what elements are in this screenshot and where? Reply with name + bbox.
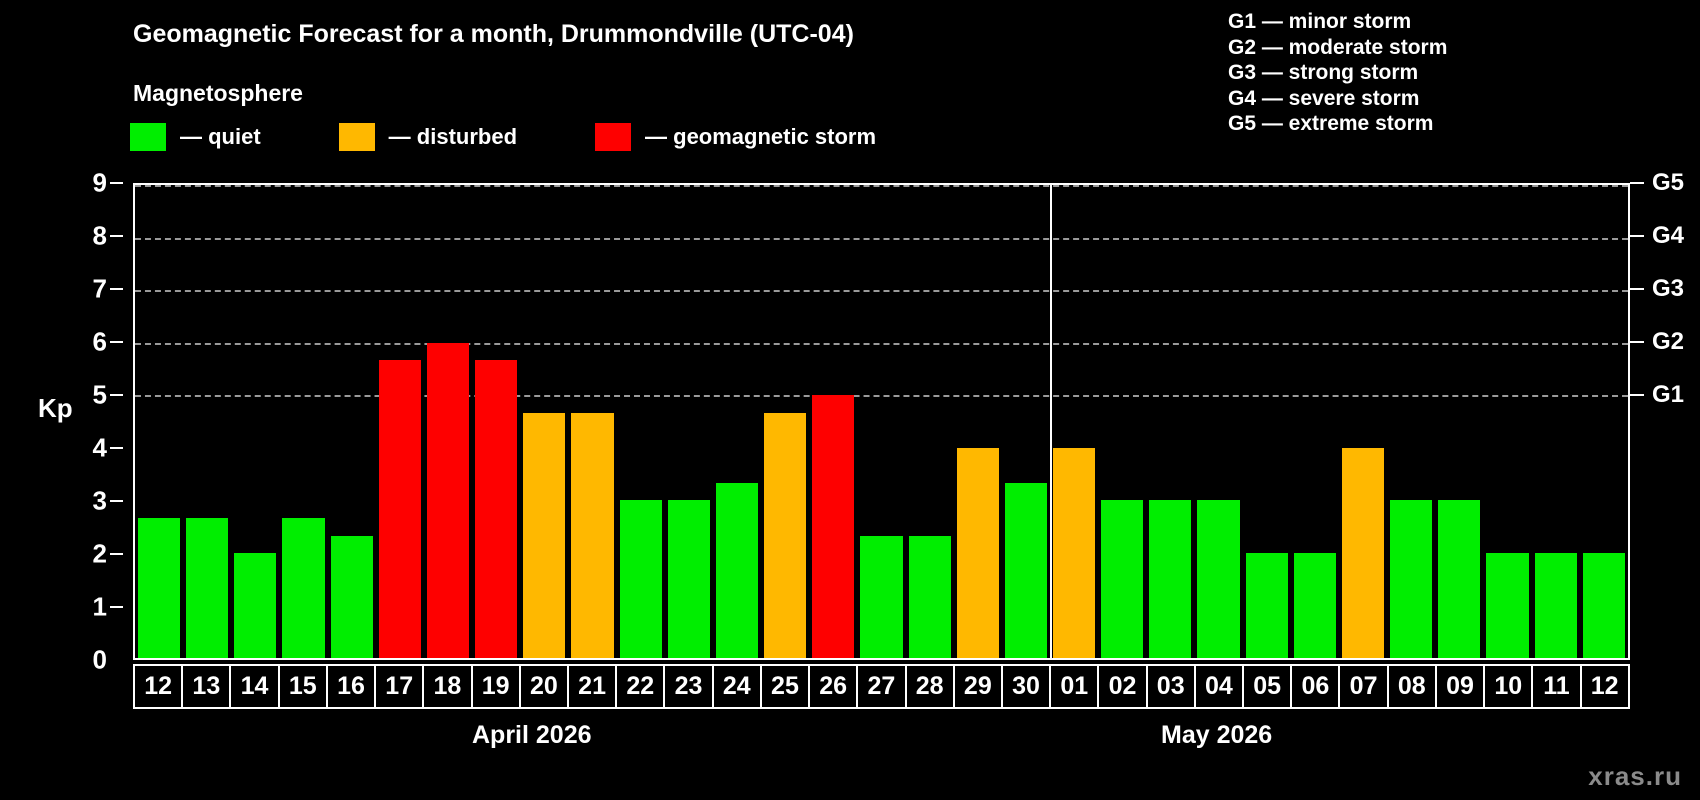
date-label-12[interactable]: 12 [135, 666, 183, 707]
bar-15-quiet[interactable] [282, 518, 324, 658]
y-tick-mark-3 [110, 500, 123, 502]
bar-cell [1291, 185, 1339, 658]
date-label-08[interactable]: 08 [1389, 666, 1437, 707]
bar-cell [328, 185, 376, 658]
bar-cell [183, 185, 231, 658]
bar-18-storm[interactable] [427, 343, 469, 658]
bar-11-quiet[interactable] [1535, 553, 1577, 658]
date-label-17[interactable]: 17 [376, 666, 424, 707]
bar-27-quiet[interactable] [860, 536, 902, 658]
date-label-23[interactable]: 23 [665, 666, 713, 707]
bar-cell [1194, 185, 1242, 658]
y-tick-label-1: 1 [93, 592, 107, 623]
g-scale-row-g5: G5 — extreme storm [1228, 111, 1447, 137]
date-label-06[interactable]: 06 [1292, 666, 1340, 707]
date-label-04[interactable]: 04 [1196, 666, 1244, 707]
bar-cell [520, 185, 568, 658]
date-label-27[interactable]: 27 [858, 666, 906, 707]
bar-cell [472, 185, 520, 658]
g-tick-mark-g3 [1630, 288, 1644, 290]
page-title: Geomagnetic Forecast for a month, Drummo… [133, 20, 854, 49]
y-tick-label-3: 3 [93, 485, 107, 516]
date-label-24[interactable]: 24 [714, 666, 762, 707]
y-tick-label-5: 5 [93, 380, 107, 411]
bar-cell [424, 185, 472, 658]
legend-label-storm: — geomagnetic storm [645, 124, 876, 150]
bar-cell [665, 185, 713, 658]
g-scale-legend: G1 — minor storm G2 — moderate storm G3 … [1228, 9, 1447, 137]
date-label-22[interactable]: 22 [617, 666, 665, 707]
magnetosphere-heading: Magnetosphere [133, 80, 303, 107]
date-label-29[interactable]: 29 [955, 666, 1003, 707]
bar-22-quiet[interactable] [620, 500, 662, 658]
date-label-12[interactable]: 12 [1582, 666, 1628, 707]
bar-cell [1532, 185, 1580, 658]
y-tick-label-0: 0 [93, 645, 107, 676]
legend-item-quiet: — quiet [130, 123, 261, 151]
chart-plot-area [133, 183, 1630, 660]
bar-cell [809, 185, 857, 658]
date-label-05[interactable]: 05 [1244, 666, 1292, 707]
date-label-02[interactable]: 02 [1099, 666, 1147, 707]
legend-label-disturbed: — disturbed [389, 124, 517, 150]
g-tick-mark-g4 [1630, 235, 1644, 237]
bar-cell [279, 185, 327, 658]
date-label-19[interactable]: 19 [473, 666, 521, 707]
date-label-15[interactable]: 15 [280, 666, 328, 707]
bar-cell [231, 185, 279, 658]
bar-series [135, 185, 1628, 658]
bar-13-quiet[interactable] [186, 518, 228, 658]
bar-28-quiet[interactable] [909, 536, 951, 658]
legend-item-disturbed: — disturbed [339, 123, 517, 151]
month-label-april: April 2026 [472, 721, 592, 750]
bar-20-disturbed[interactable] [523, 413, 565, 658]
date-label-28[interactable]: 28 [907, 666, 955, 707]
bar-cell [761, 185, 809, 658]
date-label-21[interactable]: 21 [569, 666, 617, 707]
date-label-09[interactable]: 09 [1437, 666, 1485, 707]
bar-17-storm[interactable] [379, 360, 421, 658]
y-tick-mark-9 [110, 182, 123, 184]
watermark: xras.ru [1588, 761, 1682, 792]
bar-cell [1098, 185, 1146, 658]
bar-cell [1580, 185, 1628, 658]
bar-cell [857, 185, 905, 658]
bar-02-quiet[interactable] [1101, 500, 1143, 658]
y-axis-label: Kp [38, 393, 73, 424]
bar-cell [1050, 185, 1098, 658]
g-tick-label-g3: G3 [1652, 275, 1684, 303]
g-tick-label-g2: G2 [1652, 328, 1684, 356]
y-tick-label-8: 8 [93, 221, 107, 252]
y-tick-label-6: 6 [93, 326, 107, 357]
bar-08-quiet[interactable] [1390, 500, 1432, 658]
date-label-14[interactable]: 14 [231, 666, 279, 707]
y-tick-mark-5 [110, 394, 123, 396]
legend-item-storm: — geomagnetic storm [595, 123, 876, 151]
date-label-26[interactable]: 26 [810, 666, 858, 707]
date-label-07[interactable]: 07 [1340, 666, 1388, 707]
g-tick-label-g4: G4 [1652, 222, 1684, 250]
date-axis-strip: 1213141516171819202122232425262728293001… [133, 664, 1630, 709]
bar-07-disturbed[interactable] [1342, 448, 1384, 658]
date-label-18[interactable]: 18 [424, 666, 472, 707]
y-tick-mark-1 [110, 606, 123, 608]
date-label-13[interactable]: 13 [183, 666, 231, 707]
g-scale-row-g2: G2 — moderate storm [1228, 35, 1447, 61]
date-label-03[interactable]: 03 [1148, 666, 1196, 707]
bar-24-quiet[interactable] [716, 483, 758, 658]
bar-cell [1002, 185, 1050, 658]
month-label-may: May 2026 [1161, 721, 1272, 750]
bar-cell [954, 185, 1002, 658]
g-tick-mark-g2 [1630, 341, 1644, 343]
bar-01-disturbed[interactable] [1053, 448, 1095, 658]
legend-swatch-storm [595, 123, 631, 151]
bar-cell [1146, 185, 1194, 658]
magnetosphere-legend: — quiet — disturbed — geomagnetic storm [130, 123, 876, 151]
bar-cell [713, 185, 761, 658]
legend-label-quiet: — quiet [180, 124, 261, 150]
bar-25-disturbed[interactable] [764, 413, 806, 658]
date-label-30[interactable]: 30 [1003, 666, 1051, 707]
g-scale-row-g1: G1 — minor storm [1228, 9, 1447, 35]
g-scale-row-g3: G3 — strong storm [1228, 60, 1447, 86]
date-label-11[interactable]: 11 [1533, 666, 1581, 707]
y-tick-mark-6 [110, 341, 123, 343]
bar-12-quiet[interactable] [138, 518, 180, 658]
bar-04-quiet[interactable] [1197, 500, 1239, 658]
bar-21-disturbed[interactable] [571, 413, 613, 658]
g-tick-label-g1: G1 [1652, 381, 1684, 409]
y-tick-mark-7 [110, 288, 123, 290]
y-tick-label-4: 4 [93, 433, 107, 464]
y-tick-mark-8 [110, 235, 123, 237]
bar-cell [1483, 185, 1531, 658]
bar-29-disturbed[interactable] [957, 448, 999, 658]
date-label-20[interactable]: 20 [521, 666, 569, 707]
bar-16-quiet[interactable] [331, 536, 373, 658]
g-tick-mark-g1 [1630, 394, 1644, 396]
bar-14-quiet[interactable] [234, 553, 276, 658]
bar-23-quiet[interactable] [668, 500, 710, 658]
bar-10-quiet[interactable] [1486, 553, 1528, 658]
bar-06-quiet[interactable] [1294, 553, 1336, 658]
g-tick-label-g5: G5 [1652, 169, 1684, 197]
y-tick-label-7: 7 [93, 274, 107, 305]
bar-cell [1243, 185, 1291, 658]
month-separator-line [1050, 185, 1052, 658]
y-tick-mark-2 [110, 553, 123, 555]
bar-cell [376, 185, 424, 658]
bar-30-quiet[interactable] [1005, 483, 1047, 658]
bar-12-quiet[interactable] [1583, 553, 1625, 658]
g-scale-row-g4: G4 — severe storm [1228, 86, 1447, 112]
g-scale-axis: G1G2G3G4G5 [1630, 183, 1700, 660]
bar-26-storm[interactable] [812, 395, 854, 658]
y-tick-label-2: 2 [93, 539, 107, 570]
y-tick-mark-4 [110, 447, 123, 449]
bar-cell [1387, 185, 1435, 658]
bar-cell [568, 185, 616, 658]
legend-swatch-quiet [130, 123, 166, 151]
g-tick-mark-g5 [1630, 182, 1644, 184]
bar-19-storm[interactable] [475, 360, 517, 658]
date-label-25[interactable]: 25 [762, 666, 810, 707]
bar-cell [1435, 185, 1483, 658]
bar-03-quiet[interactable] [1149, 500, 1191, 658]
bar-cell [135, 185, 183, 658]
bar-cell [617, 185, 665, 658]
legend-swatch-disturbed [339, 123, 375, 151]
bar-cell [1339, 185, 1387, 658]
bar-09-quiet[interactable] [1438, 500, 1480, 658]
bar-cell [906, 185, 954, 658]
date-label-01[interactable]: 01 [1051, 666, 1099, 707]
bar-05-quiet[interactable] [1246, 553, 1288, 658]
date-label-16[interactable]: 16 [328, 666, 376, 707]
y-tick-label-9: 9 [93, 168, 107, 199]
date-label-10[interactable]: 10 [1485, 666, 1533, 707]
